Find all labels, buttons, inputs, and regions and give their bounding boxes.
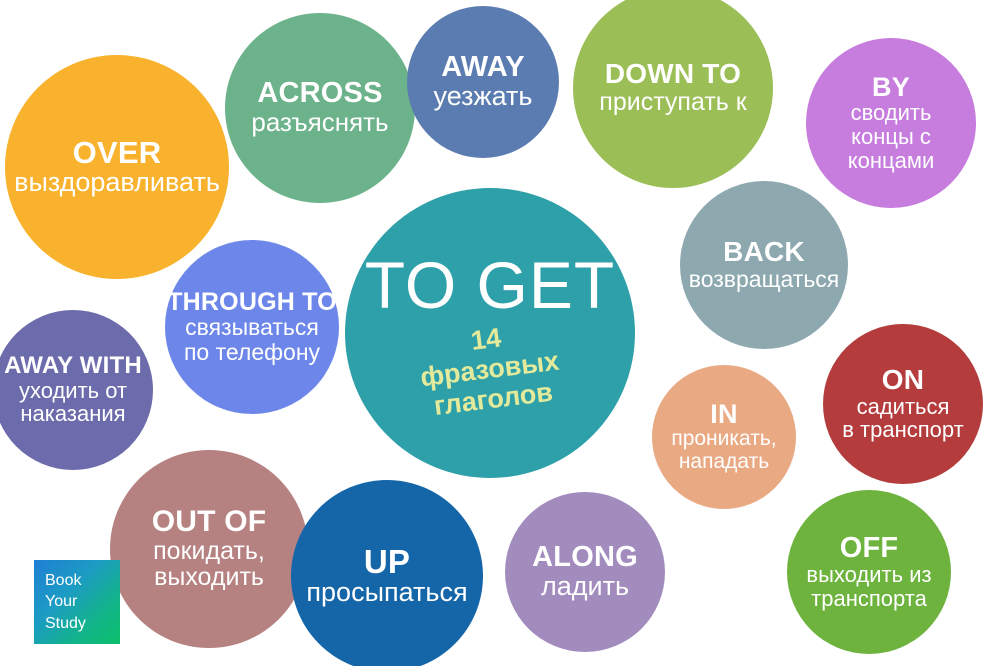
bubble-away-with[interactable]: AWAY WITH уходить от наказания — [0, 310, 153, 470]
bubble-out-of[interactable]: OUT OF покидать, выходить — [110, 450, 308, 648]
bubble-along-text: ALONG ладить — [532, 543, 638, 601]
bubble-on[interactable]: ON садиться в транспорт — [823, 324, 983, 484]
bubble-in-text: IN проникать, нападать — [671, 401, 776, 473]
logo-line-1: Book — [45, 570, 81, 591]
bubble-away-with-text: AWAY WITH уходить от наказания — [4, 354, 142, 426]
logo-line-2: Your — [45, 591, 77, 612]
bubble-along-ru: ладить — [532, 572, 638, 601]
bubble-back[interactable]: BACK возвращаться — [680, 181, 848, 349]
bubble-over-ru: выздоравливать — [14, 168, 220, 197]
bubble-over-en: OVER — [14, 137, 220, 169]
bubble-away[interactable]: AWAY уезжать — [407, 6, 559, 158]
page-title: TO GET — [365, 252, 615, 318]
page-subtitle: 14 фразовых глаголов — [415, 315, 564, 422]
bubble-in-ru: проникать, нападать — [671, 428, 776, 473]
bubble-off-en: OFF — [806, 534, 931, 564]
bubble-by-text: BY сводить концы с концами — [848, 74, 935, 172]
bubble-out-of-ru: покидать, выходить — [152, 538, 267, 592]
bubble-through-to-text: THROUGH TO связываться по телефону — [167, 290, 337, 365]
bubble-back-text: BACK возвращаться — [689, 238, 840, 291]
bubble-by-en: BY — [848, 74, 935, 102]
bubble-on-ru: садиться в транспорт — [842, 395, 963, 442]
bubble-in-en: IN — [671, 401, 776, 429]
bubble-up-text: UP просыпаться — [306, 545, 467, 608]
bubble-off-text: OFF выходить из транспорта — [806, 534, 931, 611]
bubble-on-text: ON садиться в транспорт — [842, 366, 963, 442]
bubble-up[interactable]: UP просыпаться — [291, 480, 483, 666]
bubble-back-en: BACK — [689, 238, 840, 267]
bubble-over-text: OVER выздоравливать — [14, 137, 220, 197]
bubble-by-ru: сводить концы с концами — [848, 101, 935, 172]
bubble-along-en: ALONG — [532, 543, 638, 573]
bubble-away-with-ru: уходить от наказания — [4, 379, 142, 426]
bubble-out-of-text: OUT OF покидать, выходить — [152, 507, 267, 591]
bubble-down-to-text: DOWN TO приступать к — [599, 60, 746, 115]
bubble-away-with-en: AWAY WITH — [4, 354, 142, 378]
bubble-away-en: AWAY — [434, 53, 533, 83]
logo-line-3: Study — [45, 613, 86, 634]
bubble-back-ru: возвращаться — [689, 267, 840, 292]
infographic-canvas: OVER выздоравливать ACROSS разъяснять AW… — [0, 0, 1000, 666]
bubble-down-to-ru: приступать к — [599, 89, 746, 116]
bubble-over[interactable]: OVER выздоравливать — [5, 55, 229, 279]
bubble-off[interactable]: OFF выходить из транспорта — [787, 490, 951, 654]
bubble-up-en: UP — [306, 545, 467, 579]
bubble-across-text: ACROSS разъяснять — [251, 79, 388, 136]
bubble-through-to-en: THROUGH TO — [167, 290, 337, 316]
bubble-down-to-en: DOWN TO — [599, 60, 746, 89]
bubble-away-ru: уезжать — [434, 82, 533, 111]
brand-logo[interactable]: Book Your Study — [34, 560, 120, 644]
bubble-out-of-en: OUT OF — [152, 507, 267, 538]
bubble-in[interactable]: IN проникать, нападать — [652, 365, 796, 509]
bubble-along[interactable]: ALONG ладить — [505, 492, 665, 652]
bubble-on-en: ON — [842, 366, 963, 395]
bubble-up-ru: просыпаться — [306, 578, 467, 607]
bubble-by[interactable]: BY сводить концы с концами — [806, 38, 976, 208]
bubble-down-to[interactable]: DOWN TO приступать к — [573, 0, 773, 188]
bubble-away-text: AWAY уезжать — [434, 53, 533, 111]
bubble-through-to[interactable]: THROUGH TO связываться по телефону — [165, 240, 339, 414]
bubble-across-ru: разъяснять — [251, 109, 388, 137]
bubble-off-ru: выходить из транспорта — [806, 563, 931, 610]
bubble-center-to-get[interactable]: TO GET 14 фразовых глаголов — [345, 188, 635, 478]
bubble-through-to-ru: связываться по телефону — [167, 315, 337, 364]
bubble-across-en: ACROSS — [251, 79, 388, 109]
bubble-across[interactable]: ACROSS разъяснять — [225, 13, 415, 203]
